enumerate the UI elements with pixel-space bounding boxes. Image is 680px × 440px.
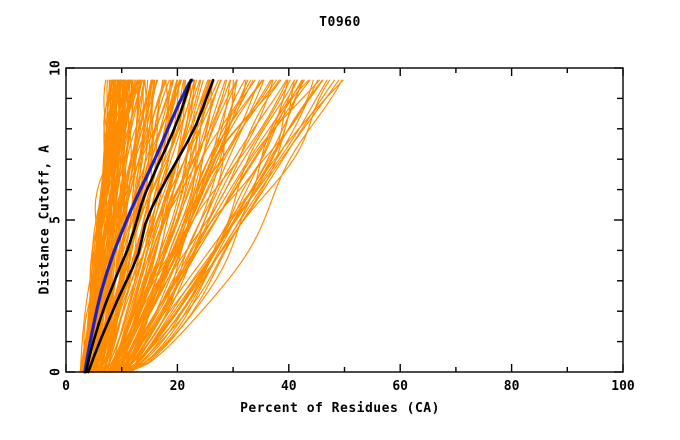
- x-tick-label: 100: [611, 379, 635, 394]
- y-tick-label: 10: [49, 60, 64, 76]
- y-tick-label: 0: [49, 368, 64, 376]
- chart-container: T0960 0204060801000510 Percent of Residu…: [0, 0, 680, 440]
- x-tick-label: 20: [170, 379, 186, 394]
- x-tick-label: 0: [62, 379, 70, 394]
- curves-layer: [80, 80, 343, 372]
- x-tick-label: 40: [281, 379, 297, 394]
- y-axis-label: Distance Cutoff, A: [38, 90, 53, 350]
- x-tick-label: 80: [504, 379, 520, 394]
- plot-canvas: 0204060801000510: [0, 0, 680, 440]
- x-tick-label: 60: [392, 379, 408, 394]
- x-axis-label: Percent of Residues (CA): [0, 401, 680, 416]
